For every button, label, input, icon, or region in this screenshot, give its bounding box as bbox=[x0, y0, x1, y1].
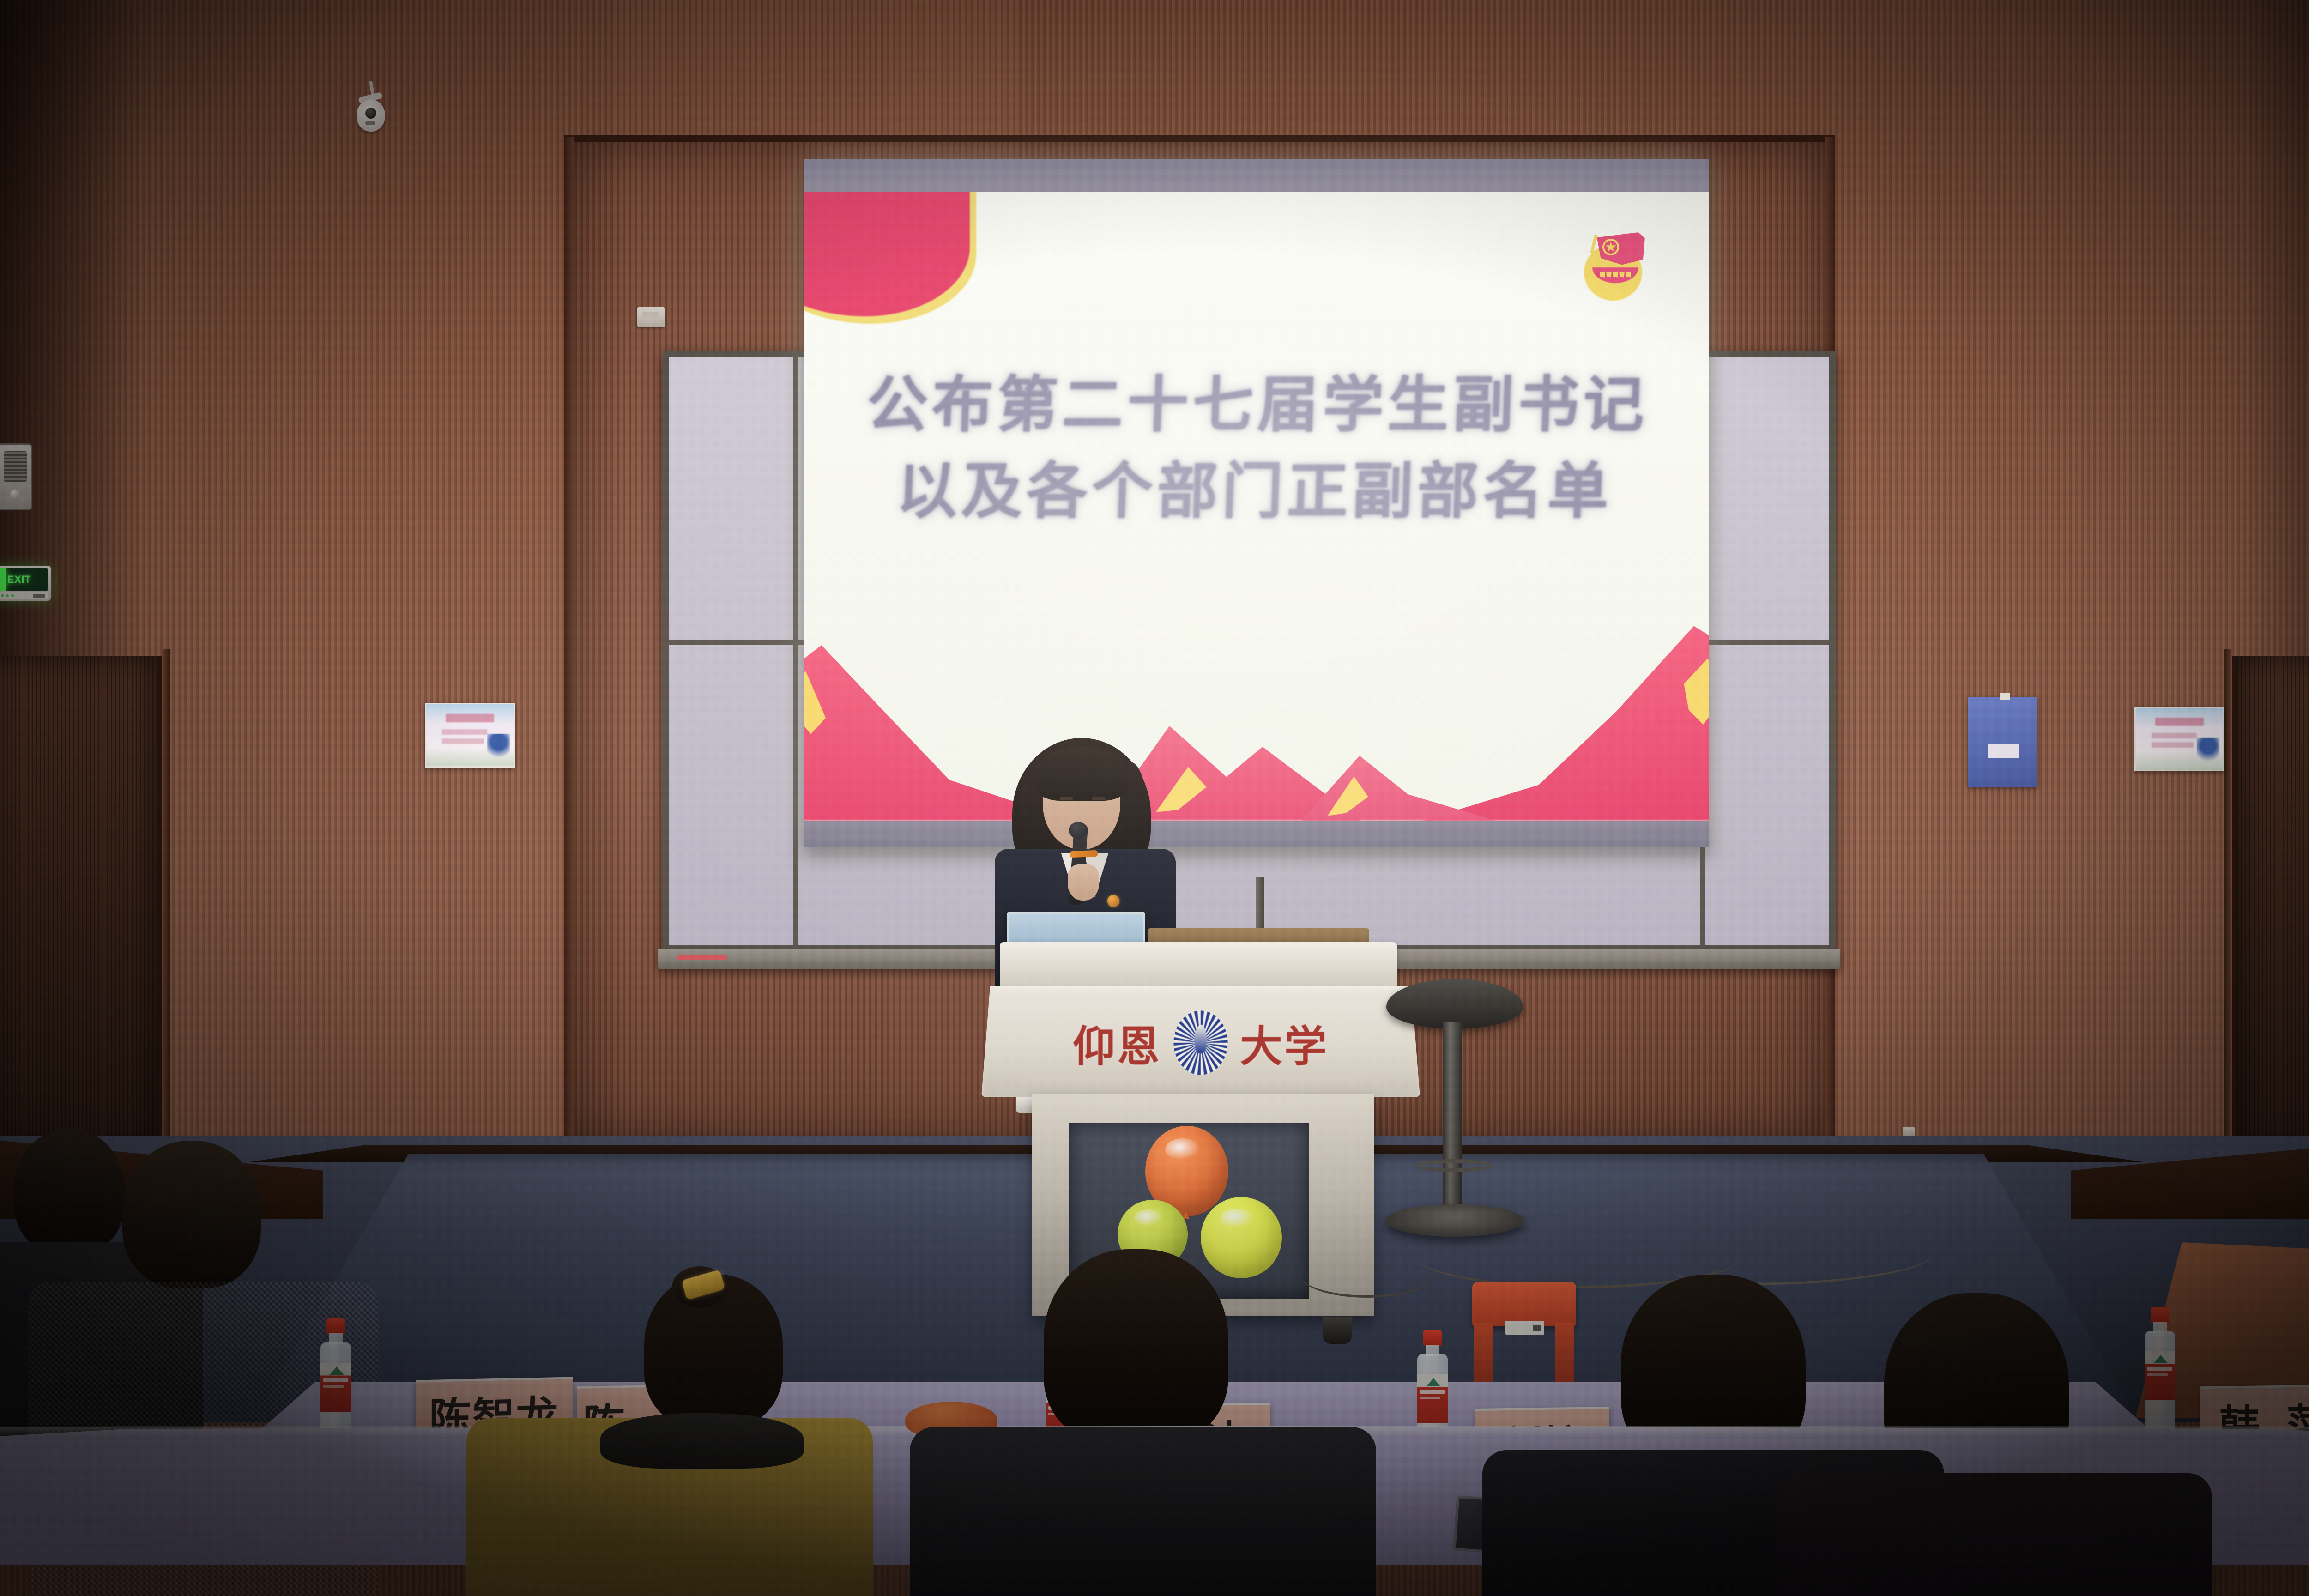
door-frame-left bbox=[163, 649, 170, 1152]
floor-cable bbox=[1298, 1247, 1436, 1298]
door-frame-right bbox=[2224, 649, 2231, 1152]
podium-brand-left: 仰恩 bbox=[1073, 1012, 1161, 1074]
whiteboard-divider-vertical bbox=[793, 357, 798, 945]
auditorium-door-left[interactable] bbox=[0, 656, 162, 1150]
security-camera-icon bbox=[351, 81, 393, 136]
wall-poster-right bbox=[2134, 707, 2224, 771]
presenter-eye-right bbox=[1092, 797, 1106, 800]
exit-label: EXIT bbox=[7, 574, 31, 586]
slide-wave-decoration bbox=[804, 608, 1709, 821]
wall-poster-left bbox=[425, 703, 515, 768]
emblem-glyph bbox=[1619, 272, 1625, 278]
bar-stool[interactable] bbox=[1381, 979, 1529, 1256]
presenter-fringe bbox=[1035, 746, 1128, 801]
bottle-brand-icon bbox=[330, 1366, 344, 1375]
bottle-cap bbox=[326, 1318, 345, 1334]
red-stool-leg bbox=[1474, 1323, 1493, 1387]
microphone-head-icon bbox=[1069, 822, 1088, 839]
presenter-eye-left bbox=[1059, 797, 1073, 800]
blue-notice-panel bbox=[1968, 697, 2037, 787]
screen-top-band bbox=[804, 159, 1709, 192]
exit-sign-face: EXIT bbox=[0, 568, 48, 591]
stool-column bbox=[1443, 1022, 1462, 1215]
emblem-banner-text bbox=[1594, 270, 1637, 278]
presentation-slide: 公布第二十七届学生副书记 以及各个部门正副部名单 bbox=[804, 192, 1709, 821]
poster-figure-icon bbox=[2197, 738, 2219, 765]
auditorium-photo: EXIT bbox=[0, 0, 2309, 1596]
emblem-glyph bbox=[1613, 272, 1618, 278]
yellow-balloon bbox=[1201, 1197, 1282, 1278]
yangen-university-seal-icon bbox=[1173, 1010, 1228, 1075]
poster-headline-blur bbox=[2155, 718, 2204, 725]
auditorium-door-right[interactable] bbox=[2232, 656, 2309, 1150]
exit-running-man-icon bbox=[0, 568, 6, 591]
poster-line-blur bbox=[442, 729, 487, 735]
bottle-label-line bbox=[323, 1385, 344, 1388]
audience-torso bbox=[910, 1427, 1376, 1596]
camera-led-strip bbox=[365, 121, 375, 125]
wave-shape-pink-right bbox=[1422, 622, 1709, 821]
emblem-glyph bbox=[1606, 272, 1612, 278]
water-bottle[interactable] bbox=[319, 1318, 353, 1443]
panel-label-strip bbox=[1988, 744, 2019, 757]
microphone-orange-band bbox=[1070, 850, 1098, 858]
water-bottle[interactable] bbox=[2143, 1307, 2177, 1432]
screen-bottom-band bbox=[804, 821, 1709, 847]
exit-indicator-dot bbox=[1, 594, 4, 597]
red-stool-leg bbox=[1555, 1323, 1574, 1387]
exit-sign-base bbox=[0, 592, 48, 599]
stool-price-label bbox=[1505, 1321, 1544, 1335]
red-plastic-stool[interactable] bbox=[1472, 1282, 1576, 1388]
bottle-label bbox=[320, 1363, 351, 1412]
bottle-label-line bbox=[2147, 1367, 2172, 1371]
red-stool-seat[interactable] bbox=[1472, 1282, 1576, 1326]
wall-socket-inner bbox=[643, 312, 659, 323]
bottle-label bbox=[2145, 1351, 2175, 1400]
stool-footrest-ring bbox=[1415, 1159, 1493, 1172]
emblem-glyph bbox=[1600, 272, 1605, 278]
poster-line-blur bbox=[2152, 733, 2197, 738]
bottle-label-line bbox=[1420, 1396, 1440, 1399]
balloon-highlight bbox=[1220, 1209, 1254, 1228]
bottle-cap bbox=[2151, 1307, 2169, 1323]
bottle-label-line bbox=[1420, 1390, 1445, 1394]
emblem-glyph bbox=[1626, 272, 1631, 278]
exit-indicator-dot bbox=[11, 594, 14, 597]
podium-branding: 仰恩 大学 bbox=[981, 1001, 1420, 1084]
exit-indicator-dot bbox=[6, 594, 9, 597]
recess-left-edge bbox=[564, 137, 574, 1146]
recess-top-edge bbox=[564, 135, 1835, 142]
slide-title-text: 公布第二十七届学生副书记 以及各个部门正副部名单 bbox=[804, 362, 1709, 535]
bottle-label bbox=[1417, 1374, 1448, 1423]
poster-line-blur bbox=[2152, 742, 2194, 748]
podium-brand-right: 大学 bbox=[1240, 1012, 1329, 1074]
audience-head bbox=[122, 1141, 261, 1288]
audience-collar bbox=[600, 1413, 804, 1469]
poster-figure-icon bbox=[487, 734, 510, 761]
speaker-knob bbox=[10, 489, 20, 499]
camera-lens-icon bbox=[365, 108, 376, 119]
presenter-hand bbox=[1068, 864, 1099, 901]
speaker-grill-icon bbox=[4, 451, 27, 482]
panel-clip-icon bbox=[2000, 693, 2010, 700]
audience-head bbox=[14, 1129, 125, 1254]
communist-youth-league-emblem-icon bbox=[1580, 232, 1650, 302]
bottle-label-line bbox=[2147, 1373, 2168, 1376]
slide-decoration-topleft bbox=[804, 192, 970, 316]
bottle-brand-icon bbox=[1427, 1378, 1440, 1386]
presenter-badge-pin bbox=[1107, 895, 1119, 907]
bottle-brand-icon bbox=[2154, 1355, 2168, 1363]
poster-line-blur bbox=[442, 738, 484, 744]
red-marker-icon[interactable] bbox=[677, 955, 727, 960]
projection-screen: 公布第二十七届学生副书记 以及各个部门正副部名单 bbox=[804, 159, 1709, 847]
wall-speaker-unit bbox=[0, 443, 32, 510]
balloon-highlight bbox=[1165, 1138, 1200, 1160]
podium-caster-wheel bbox=[1323, 1317, 1352, 1344]
audience-torso bbox=[1778, 1473, 2212, 1596]
audience-head bbox=[1044, 1249, 1228, 1443]
wall-socket-plate[interactable] bbox=[637, 307, 665, 327]
seal-core bbox=[1195, 1025, 1207, 1053]
poster-headline-blur bbox=[446, 714, 495, 722]
bottle-cap bbox=[1423, 1330, 1442, 1346]
bottle-label-line bbox=[323, 1378, 348, 1382]
podium-top-surface bbox=[1000, 942, 1397, 988]
barcode-icon bbox=[1533, 1325, 1541, 1331]
emergency-exit-sign: EXIT bbox=[0, 566, 51, 601]
exit-test-button[interactable] bbox=[33, 594, 45, 598]
balloon-highlight bbox=[1134, 1209, 1164, 1226]
